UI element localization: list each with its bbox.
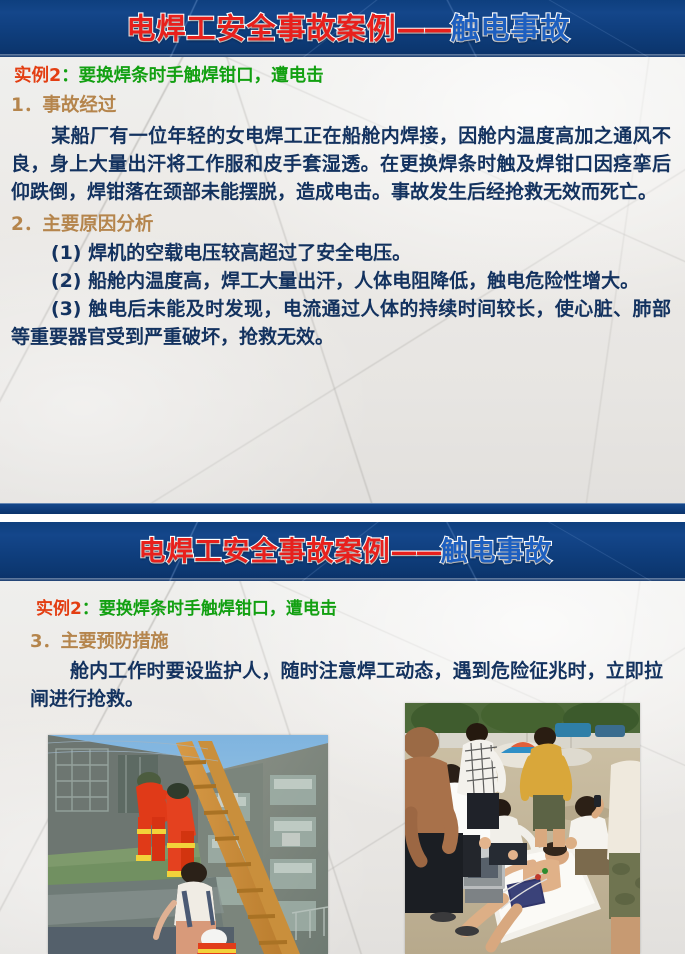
section-1-paragraph: 某船厂有一位年轻的女电焊工正在船舱内焊接，因舱内温度高加之通风不良，身上大量出汗… [0,123,685,207]
slide-1-case-heading: 实例2：要换焊条时手触焊钳口，遭电击 [0,66,685,86]
slide-1-content: 实例2：要换焊条时手触焊钳口，遭电击 1．事故经过 某船厂有一位年轻的女电焊工正… [0,66,685,352]
section-3-heading: 3．主要预防措施 [0,631,685,653]
case-title: ：要换焊条时手触焊钳口，遭电击 [61,66,324,86]
case-label: 实例2 [36,599,82,619]
rescue-ladder-photo-graphic [48,735,328,954]
case-label: 实例2 [14,66,61,86]
slide-deck: 电焊工安全事故案例——触电事故 实例2：要换焊条时手触焊钳口，遭电击 1．事故经… [0,0,685,954]
slide-2-content: 实例2：要换焊条时手触焊钳口，遭电击 3．主要预防措施 舱内工作时要设监护人，随… [0,600,685,714]
section-1-heading: 1．事故经过 [0,95,685,117]
section-2-item-1: (1) 焊机的空载电压较高超过了安全电压。 [0,240,685,268]
first-aid-photo-graphic [405,703,640,954]
rescue-ladder-photo [48,735,328,954]
section-2-item-1-text: (1) 焊机的空载电压较高超过了安全电压。 [51,242,411,264]
section-2-item-3-text: (3) 触电后未能及时发现，电流通过人体的持续时间较长，使心脏、肺部等重要器官受… [11,298,671,348]
title-sub-text: 触电事故 [441,536,553,567]
slide-1-title: 电焊工安全事故案例——触电事故 [0,14,685,43]
title-dash: —— [397,11,451,45]
section-2-item-2-text: (2) 船舱内温度高，焊工大量出汗，人体电阻降低，触电危险性增大。 [51,270,639,292]
slide-1-footer-bar [0,503,685,514]
section-1-paragraph-text: 某船厂有一位年轻的女电焊工正在船舱内焊接，因舱内温度高加之通风不良，身上大量出汗… [11,125,671,203]
title-dash: —— [391,536,441,567]
title-main-text: 电焊工安全事故案例 [126,11,396,45]
first-aid-photo [405,703,640,954]
section-2-item-3: (3) 触电后未能及时发现，电流通过人体的持续时间较长，使心脏、肺部等重要器官受… [0,296,685,352]
title-main-text: 电焊工安全事故案例 [139,536,391,567]
section-2-item-2: (2) 船舱内温度高，焊工大量出汗，人体电阻降低，触电危险性增大。 [0,268,685,296]
slide-2-case-heading: 实例2：要换焊条时手触焊钳口，遭电击 [0,600,685,620]
slide-1-title-banner: 电焊工安全事故案例——触电事故 [0,0,685,57]
slide-2-title: 电焊工安全事故案例——触电事故 [0,538,685,565]
section-2-heading: 2．主要原因分析 [0,214,685,236]
case-title: ：要换焊条时手触焊钳口，遭电击 [82,599,337,619]
title-sub-text: 触电事故 [451,11,571,45]
slide-2-title-banner: 电焊工安全事故案例——触电事故 [0,522,685,581]
slide-1: 电焊工安全事故案例——触电事故 实例2：要换焊条时手触焊钳口，遭电击 1．事故经… [0,0,685,514]
